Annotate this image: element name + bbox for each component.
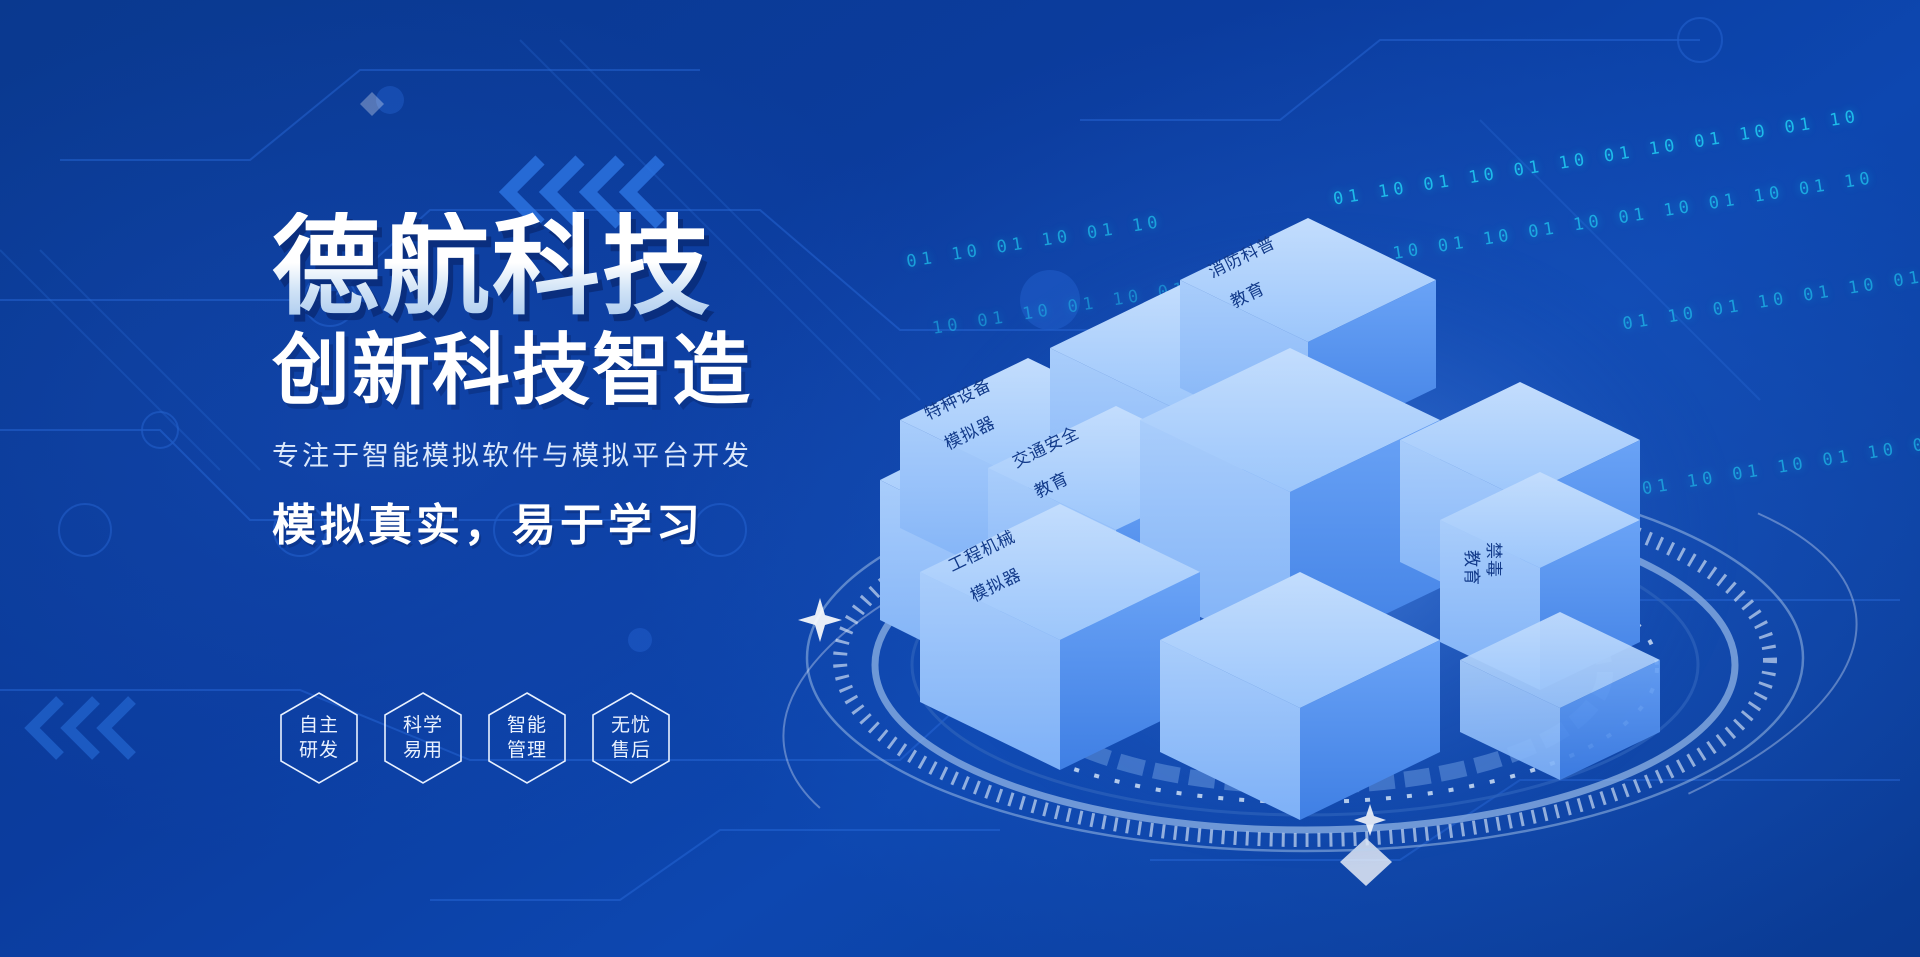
hero-banner: 01 10 01 10 01 10 10 01 10 01 10 01 10 0… [0,0,1920,957]
feature-badge-list: 自主 研发 科学 易用 智能 管理 [276,690,674,786]
badge-line-2: 售后 [611,738,651,763]
cube-label-line-1: 禁毒 [1484,542,1503,578]
badge-line-1: 科学 [403,713,443,738]
feature-badge-scientific-ease[interactable]: 科学 易用 [380,690,466,786]
badge-line-2: 易用 [403,738,443,763]
isometric-cube-illustration: 特种设备 模拟器 消防科普 教育 交通安全 [760,120,1920,900]
feature-badge-worry-free-support[interactable]: 无忧 售后 [588,690,674,786]
feature-badge-smart-management[interactable]: 智能 管理 [484,690,570,786]
cube-label-line-2: 教育 [1462,550,1481,586]
badge-line-2: 研发 [299,738,339,763]
badge-line-1: 智能 [507,713,547,738]
badge-line-2: 管理 [507,738,547,763]
feature-badge-self-development[interactable]: 自主 研发 [276,690,362,786]
badge-line-1: 无忧 [611,713,651,738]
badge-line-1: 自主 [299,713,339,738]
